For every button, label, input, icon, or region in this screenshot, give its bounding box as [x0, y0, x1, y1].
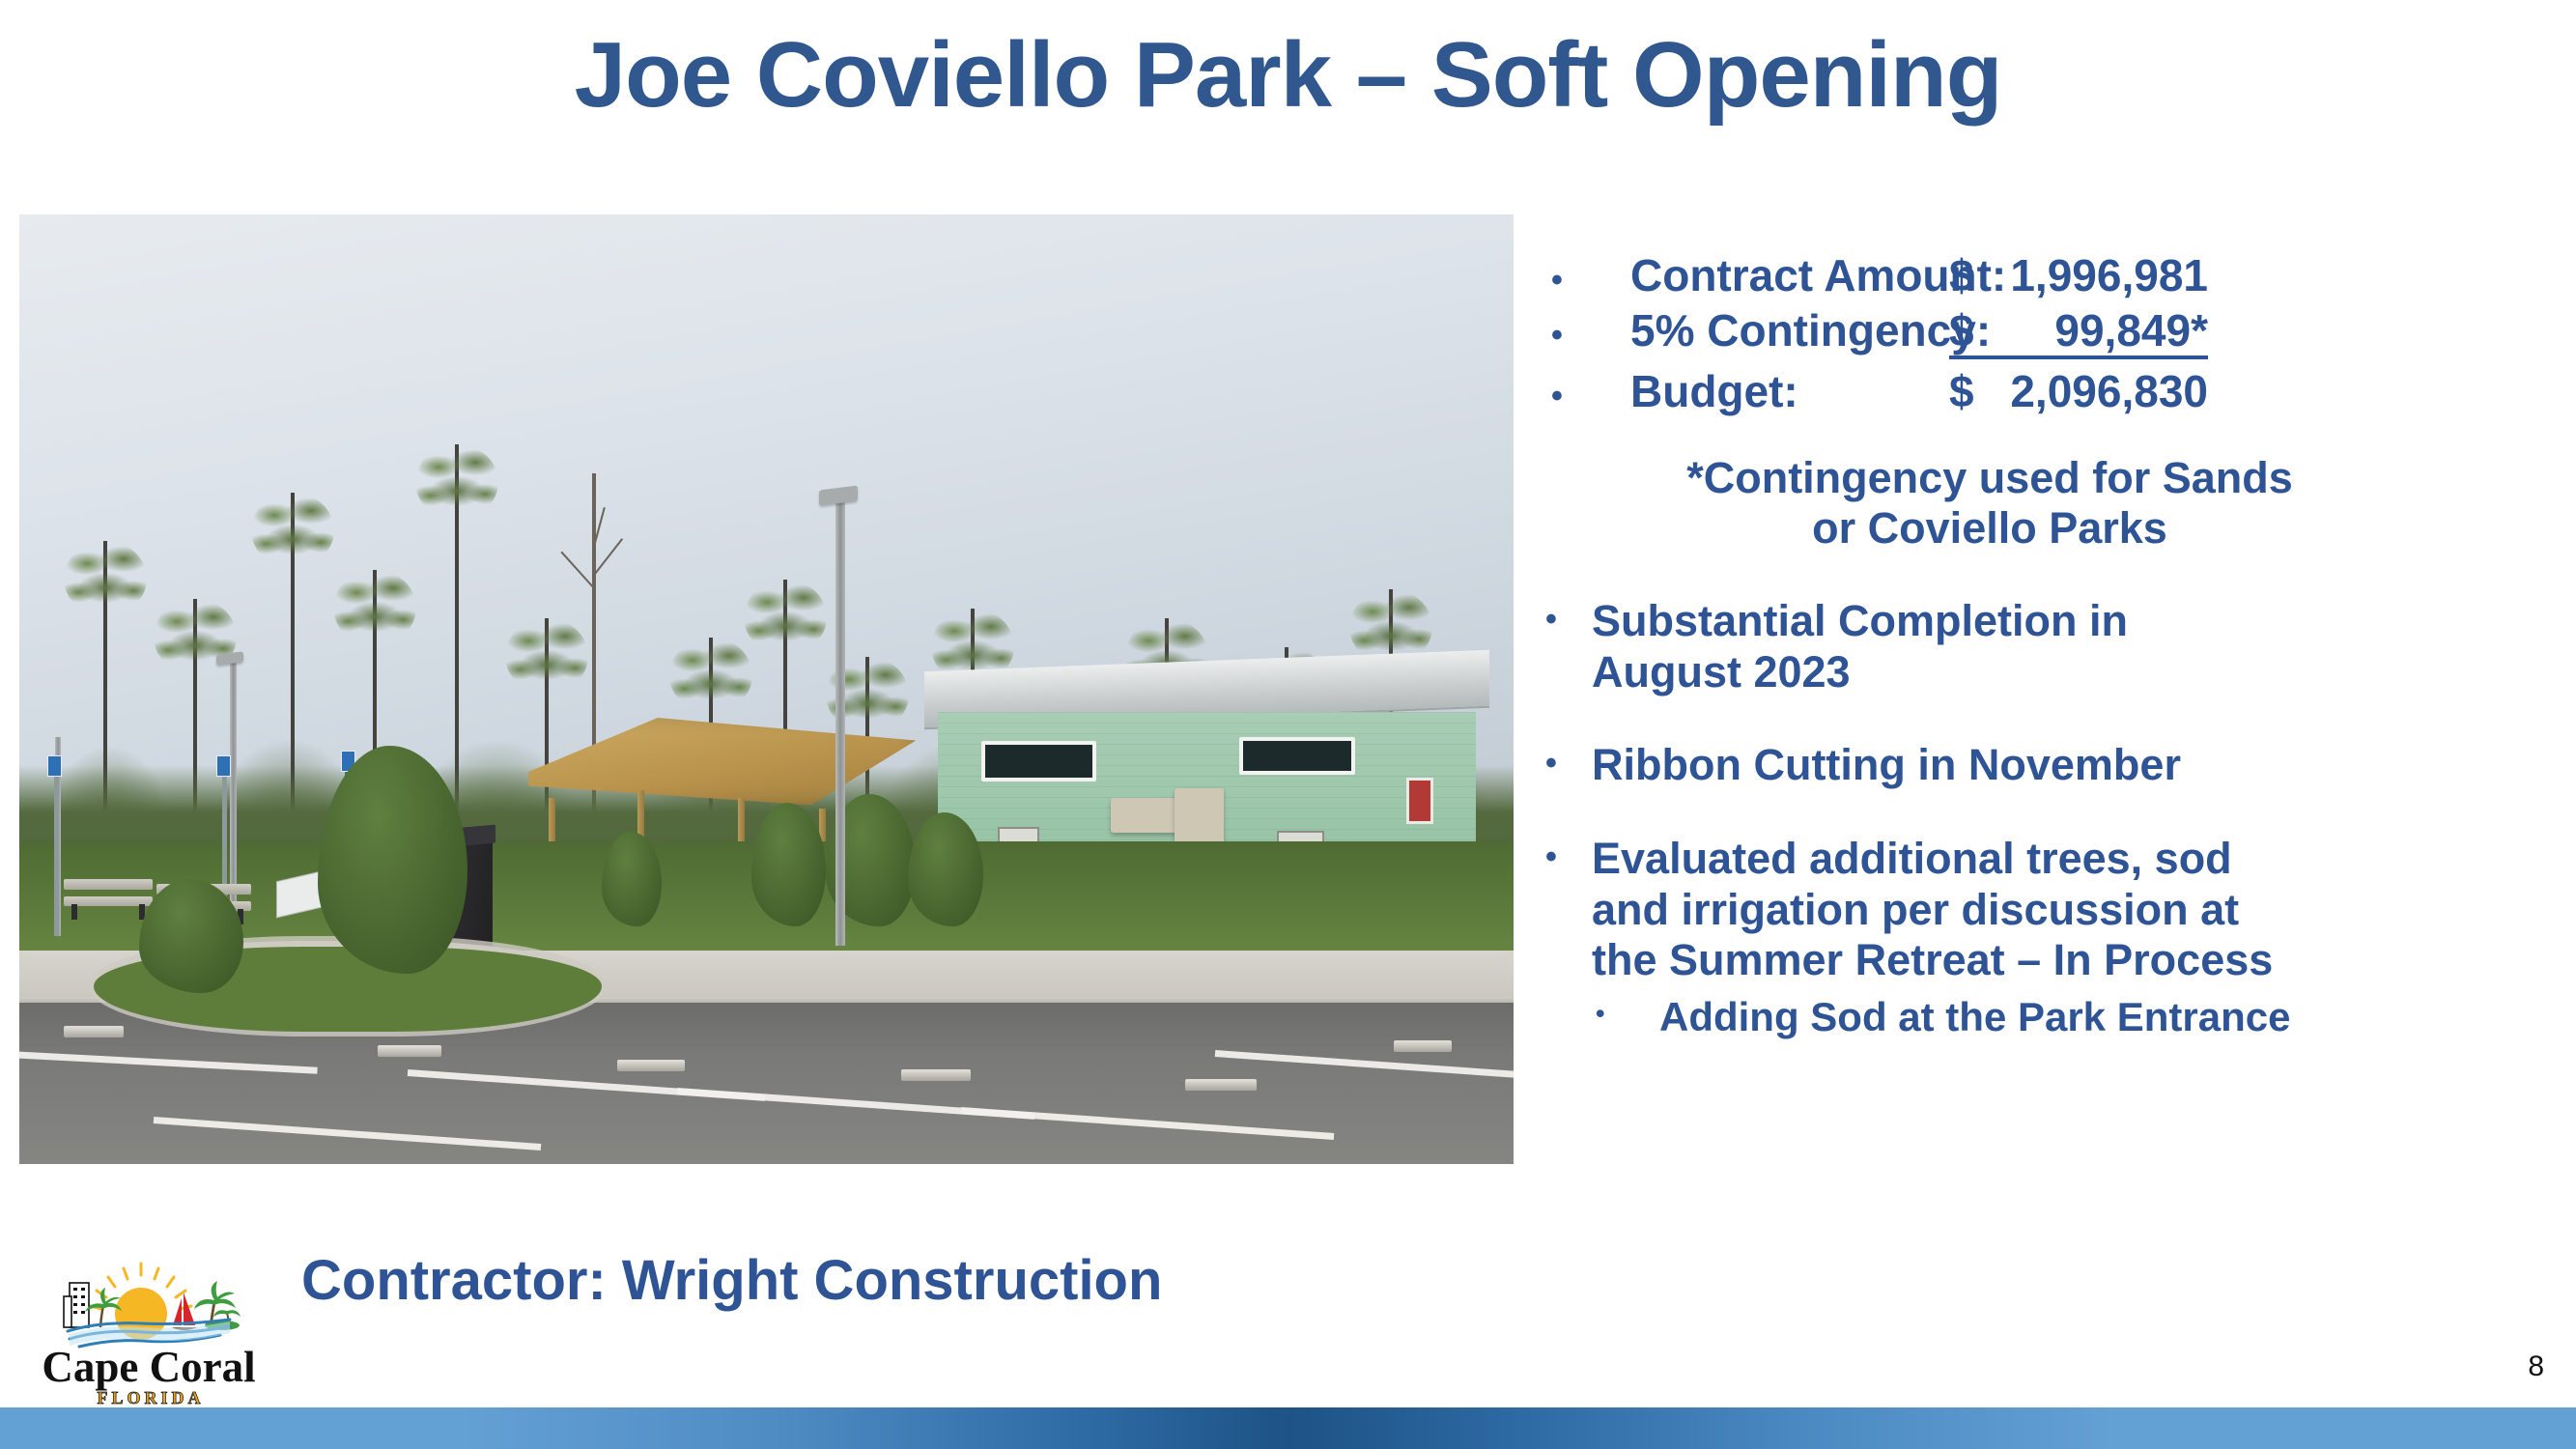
drinking-fountain	[1175, 788, 1223, 845]
wheel-stop	[378, 1045, 441, 1057]
financial-amount: 99,849*	[2054, 305, 2208, 355]
wheel-stop	[64, 1026, 124, 1037]
financial-row-contingency: • 5% Contingency: $99,849*	[1545, 308, 2550, 359]
emergency-sign	[1406, 778, 1433, 824]
bullet-icon: •	[1545, 380, 1630, 412]
bullet-icon: •	[1545, 740, 1592, 787]
currency-symbol: $	[1949, 253, 1974, 298]
building-window	[1239, 737, 1354, 776]
financial-label: Contract Amount:	[1630, 253, 1949, 298]
contingency-note-line-2: or Coviello Parks	[1545, 503, 2434, 554]
bullet-icon: •	[1545, 596, 1592, 643]
light-pole	[835, 499, 845, 946]
currency-symbol: $	[1949, 369, 1974, 414]
logo-state-text: FLORIDA	[97, 1388, 204, 1407]
park-photo-scene	[19, 214, 1514, 1164]
bullet-ribbon-cutting: • Ribbon Cutting in November	[1545, 740, 2550, 791]
contingency-note: *Contingency used for Sands or Coviello …	[1545, 453, 2550, 554]
wheel-stop	[1394, 1040, 1452, 1052]
cape-coral-logo: Cape Coral FLORIDA	[41, 1258, 261, 1410]
financial-value: $2,096,830	[1949, 369, 2208, 414]
sub-bullet-text: Adding Sod at the Park Entrance	[1659, 994, 2290, 1040]
bullet-icon: •	[1596, 994, 1659, 1034]
financial-value: $99,849*	[1949, 308, 2208, 359]
page-number: 8	[2528, 1350, 2544, 1383]
currency-symbol: $	[1949, 308, 1974, 354]
cape-coral-logo-graphic: Cape Coral FLORIDA	[41, 1258, 261, 1410]
ada-parking-sign	[47, 755, 62, 777]
park-bench	[64, 879, 153, 920]
financial-row-budget: • Budget: $2,096,830	[1545, 369, 2550, 414]
financial-amount: 2,096,830	[2010, 366, 2208, 416]
bullet-text: Ribbon Cutting in November	[1592, 740, 2210, 791]
bullet-text: Evaluated additional trees, sod and irri…	[1592, 834, 2307, 986]
ada-parking-sign	[216, 755, 231, 777]
building-window	[981, 741, 1096, 781]
wheel-stop	[617, 1060, 685, 1071]
logo-city-text: Cape Coral	[42, 1343, 255, 1391]
bullet-icon: •	[1545, 319, 1630, 352]
bullet-substantial-completion: • Substantial Completion in August 2023	[1545, 596, 2550, 697]
wheel-stop	[1185, 1079, 1257, 1091]
park-photo	[19, 214, 1514, 1164]
sign-post	[54, 765, 59, 936]
ornamental-grass	[908, 812, 982, 926]
bullet-evaluated-trees-sod: • Evaluated additional trees, sod and ir…	[1545, 834, 2550, 986]
footer-accent-bar	[0, 1407, 2576, 1449]
financial-label: Budget:	[1630, 369, 1949, 414]
financial-value: $1,996,981	[1949, 253, 2208, 298]
contractor-label: Contractor: Wright Construction	[301, 1248, 1162, 1313]
contingency-note-line-1: *Contingency used for Sands	[1545, 453, 2434, 503]
bullet-icon: •	[1545, 264, 1630, 297]
slide-content-column: • Contract Amount: $1,996,981 • 5% Conti…	[1545, 253, 2550, 1040]
sub-bullet-adding-sod: • Adding Sod at the Park Entrance	[1545, 994, 2550, 1040]
financial-label: 5% Contingency:	[1630, 308, 1949, 354]
bullet-icon: •	[1545, 834, 1592, 881]
financial-row-contract-amount: • Contract Amount: $1,996,981	[1545, 253, 2550, 298]
wheel-stop	[901, 1069, 971, 1081]
financial-amount: 1,996,981	[2010, 250, 2208, 300]
bullet-text: Substantial Completion in August 2023	[1592, 596, 2210, 697]
drinking-fountain	[1111, 798, 1180, 833]
pavilion-roof	[513, 718, 917, 805]
page-title: Joe Coviello Park – Soft Opening	[0, 27, 2576, 125]
